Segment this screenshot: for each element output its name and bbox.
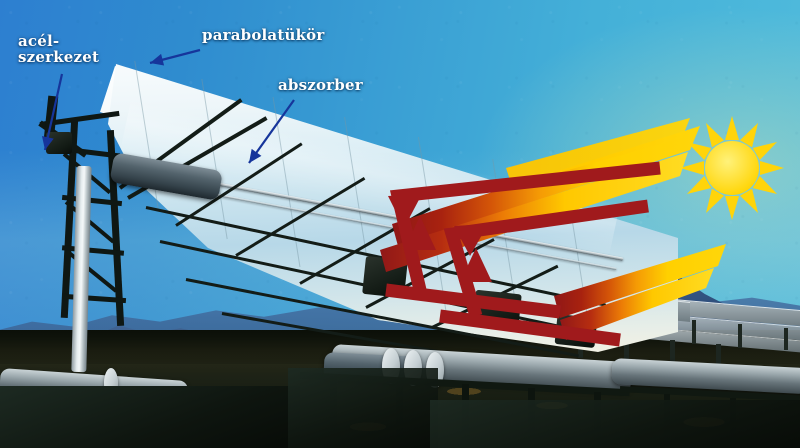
sun-ray <box>700 189 724 217</box>
label-abszorber: abszorber <box>278 78 363 94</box>
foreground-structure-right <box>430 400 800 448</box>
drive-unit-left <box>46 132 72 154</box>
sun-ray <box>753 136 781 160</box>
sun-ray <box>725 116 739 140</box>
foreground-frame <box>288 368 438 448</box>
sun-ray <box>680 161 704 175</box>
bearing-assembly-right <box>472 290 522 331</box>
label-acel-szerkezet: acél- szerkezet <box>18 34 99 66</box>
foreground-machinery <box>0 386 300 448</box>
sun-graphic <box>686 122 778 214</box>
sun-ray <box>725 196 739 220</box>
sun-ray <box>760 161 784 175</box>
label-parabolatukor: parabolatükör <box>202 28 324 44</box>
bearing-assembly-far <box>555 314 598 348</box>
sun-core <box>705 141 759 195</box>
bearing-assembly-mid <box>362 256 408 298</box>
figure-canvas: acél- szerkezet parabolatükör abszorber <box>0 0 800 448</box>
